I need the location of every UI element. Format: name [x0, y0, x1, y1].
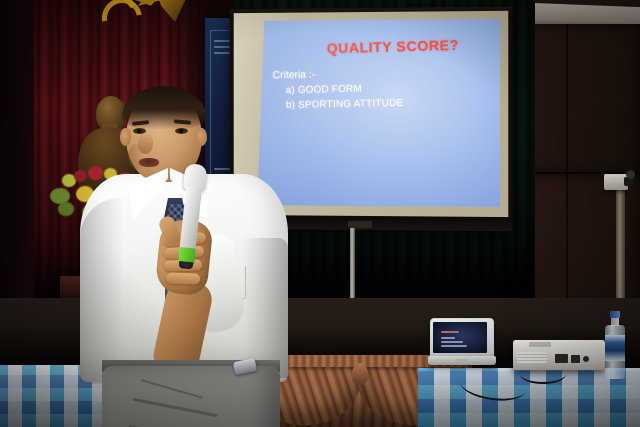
projector-vent [517, 352, 547, 364]
projector-port [583, 356, 589, 362]
curtain-left-shadow [0, 0, 34, 300]
microphone-body [179, 187, 202, 254]
screen-roller-handle [348, 221, 372, 228]
presenter-laptop[interactable] [428, 318, 496, 370]
finger [166, 272, 200, 284]
microphone-end-cap [179, 261, 194, 269]
sleeve-shadow [242, 238, 288, 378]
slide-body: Criteria :- a) GOOD FORM b) SPORTING ATT… [273, 66, 404, 113]
laptop-trackpad[interactable] [456, 359, 467, 362]
hammer-and-sickle-emblem [96, 0, 150, 34]
laptop-screen [433, 322, 487, 353]
slide-line-2: b) SPORTING ATTITUDE [273, 96, 403, 113]
presenter-ear [196, 128, 207, 146]
projector-top [513, 340, 605, 349]
projector-label [529, 342, 551, 347]
presenter-mouth [139, 158, 159, 167]
slide-line-1: a) GOOD FORM [273, 81, 403, 99]
projector-port [571, 355, 580, 363]
presentation-photo-scene: QUALITY SCORE? Criteria :- a) GOOD FORM … [0, 0, 640, 427]
presenter-eye [175, 128, 188, 134]
bottle-cap [610, 311, 620, 318]
slide-line-0: Criteria :- [273, 66, 403, 84]
presenter [84, 88, 284, 427]
projector-port [555, 354, 568, 363]
shirt-shadow [80, 198, 124, 384]
presenter-trousers [102, 366, 280, 427]
bottle-label [605, 335, 625, 361]
valance-knot [352, 363, 368, 385]
slide-title: QUALITY SCORE? [257, 36, 500, 58]
projected-slide: QUALITY SCORE? Criteria :- a) GOOD FORM … [257, 19, 500, 207]
panel-seam [566, 24, 568, 314]
projector-cable [520, 364, 566, 384]
presenter-ear [120, 128, 131, 146]
water-bottle[interactable] [604, 311, 626, 379]
stand-knob [626, 170, 635, 179]
